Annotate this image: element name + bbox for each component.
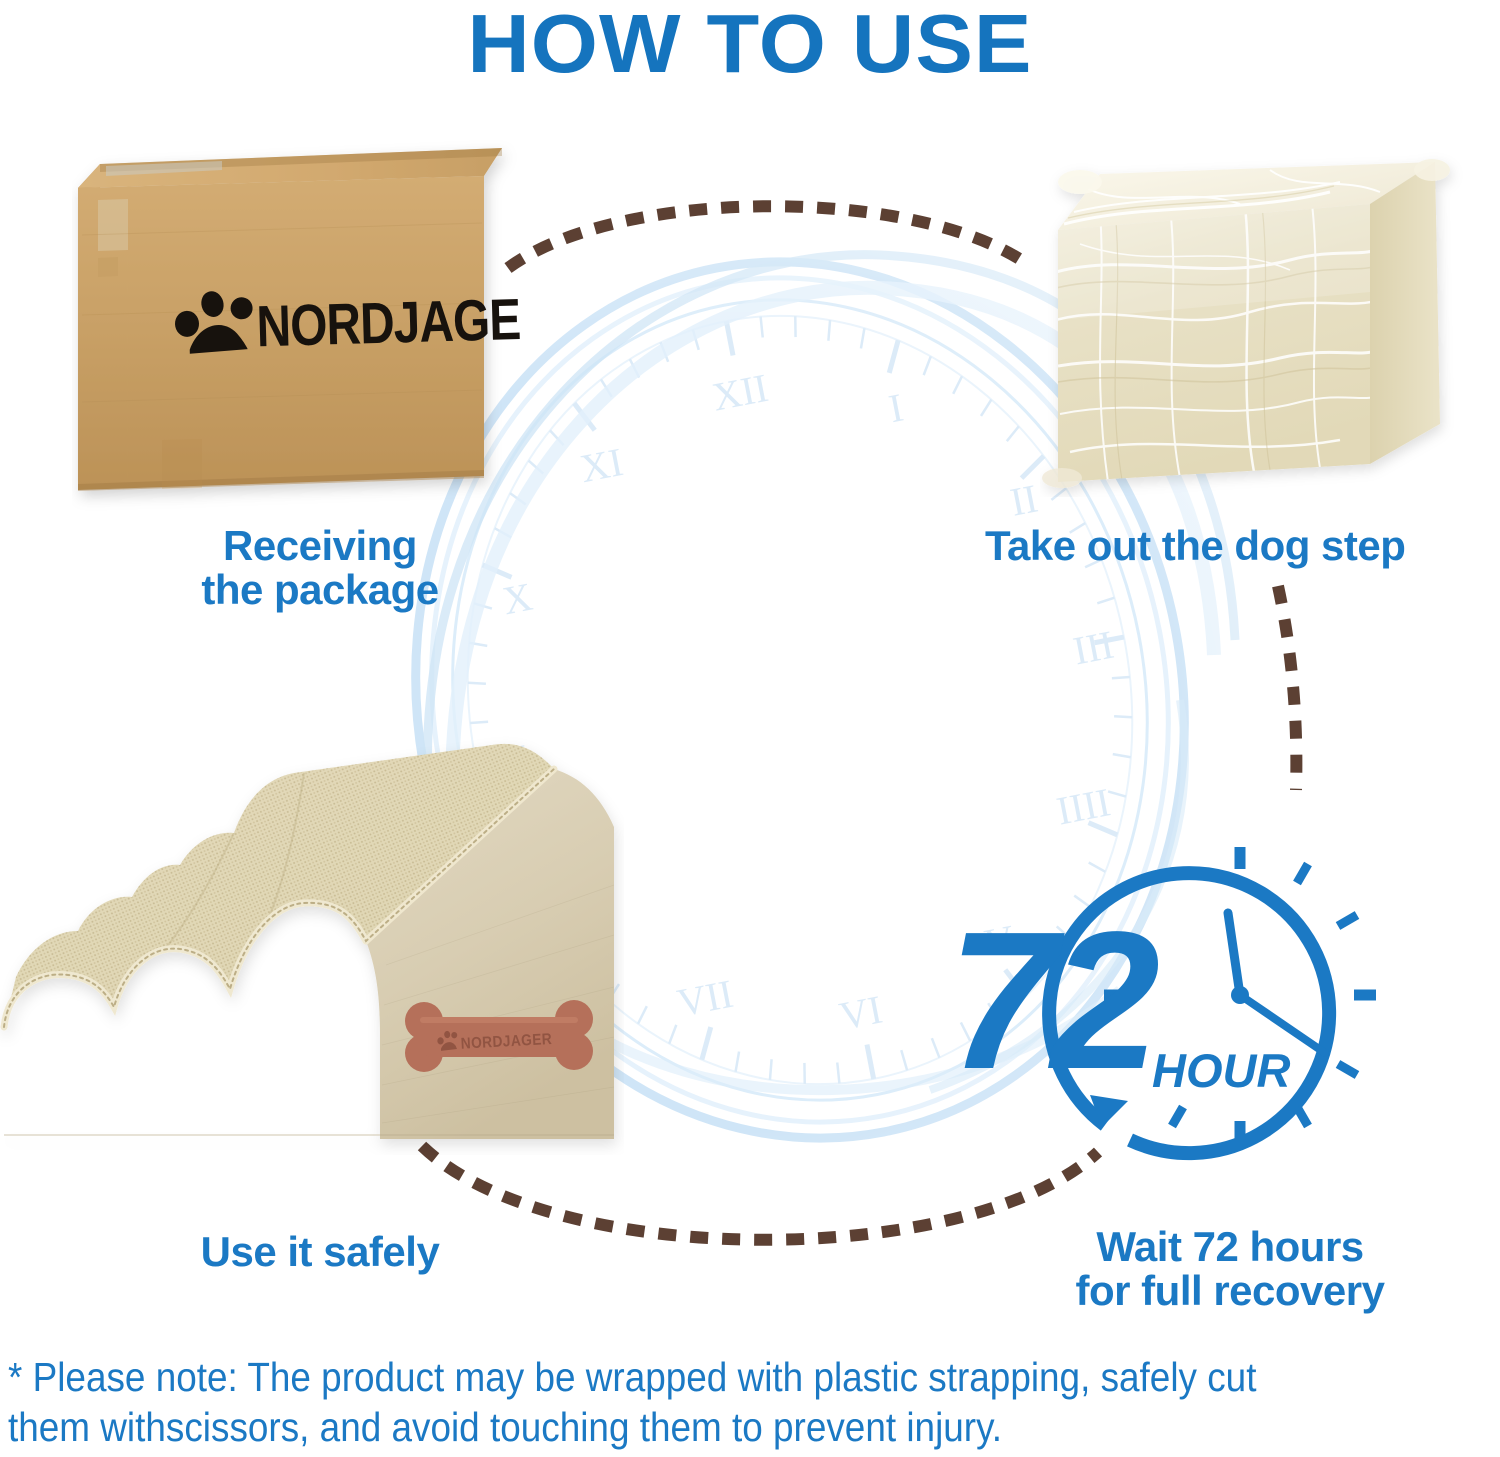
dashed-connector-right [1230,580,1360,800]
caption-line-2: for full recovery [1020,1269,1440,1313]
svg-text:VII: VII [674,971,737,1026]
caption-receiving-the-package: Receiving the package [130,524,510,611]
caption-wait-72-hours: Wait 72 hours for full recovery [1020,1225,1440,1312]
svg-text:XII: XII [709,365,772,420]
svg-text:III: III [1069,622,1117,674]
caption-line-1: Receiving [130,524,510,568]
svg-text:NORDJAGER: NORDJAGER [256,287,522,360]
clock-badge-unit: HOUR [1152,1043,1290,1098]
footnote-disclaimer: * Please note: The product may be wrappe… [8,1352,1340,1452]
caption-use-it-safely: Use it safely [110,1230,530,1274]
dog-step-product-image: NORDJAGER [0,735,624,1155]
clock-badge-number: 72 [948,903,1154,1099]
page-title: HOW TO USE [0,2,1500,85]
plastic-wrapped-foam-block-image [1040,152,1480,497]
svg-text:I: I [885,384,907,431]
svg-text:II: II [1007,475,1042,524]
svg-text:VI: VI [836,987,886,1039]
svg-text:XI: XI [577,439,627,491]
caption-line-1: Wait 72 hours [1020,1225,1440,1269]
caption-take-out-the-dog-step: Take out the dog step [985,524,1500,568]
dashed-connector-top [500,180,1040,290]
cardboard-box-image: NORDJAGER [72,140,522,520]
72-hour-clock-badge: 72 HOUR [940,795,1430,1165]
caption-line-2: the package [130,568,510,612]
